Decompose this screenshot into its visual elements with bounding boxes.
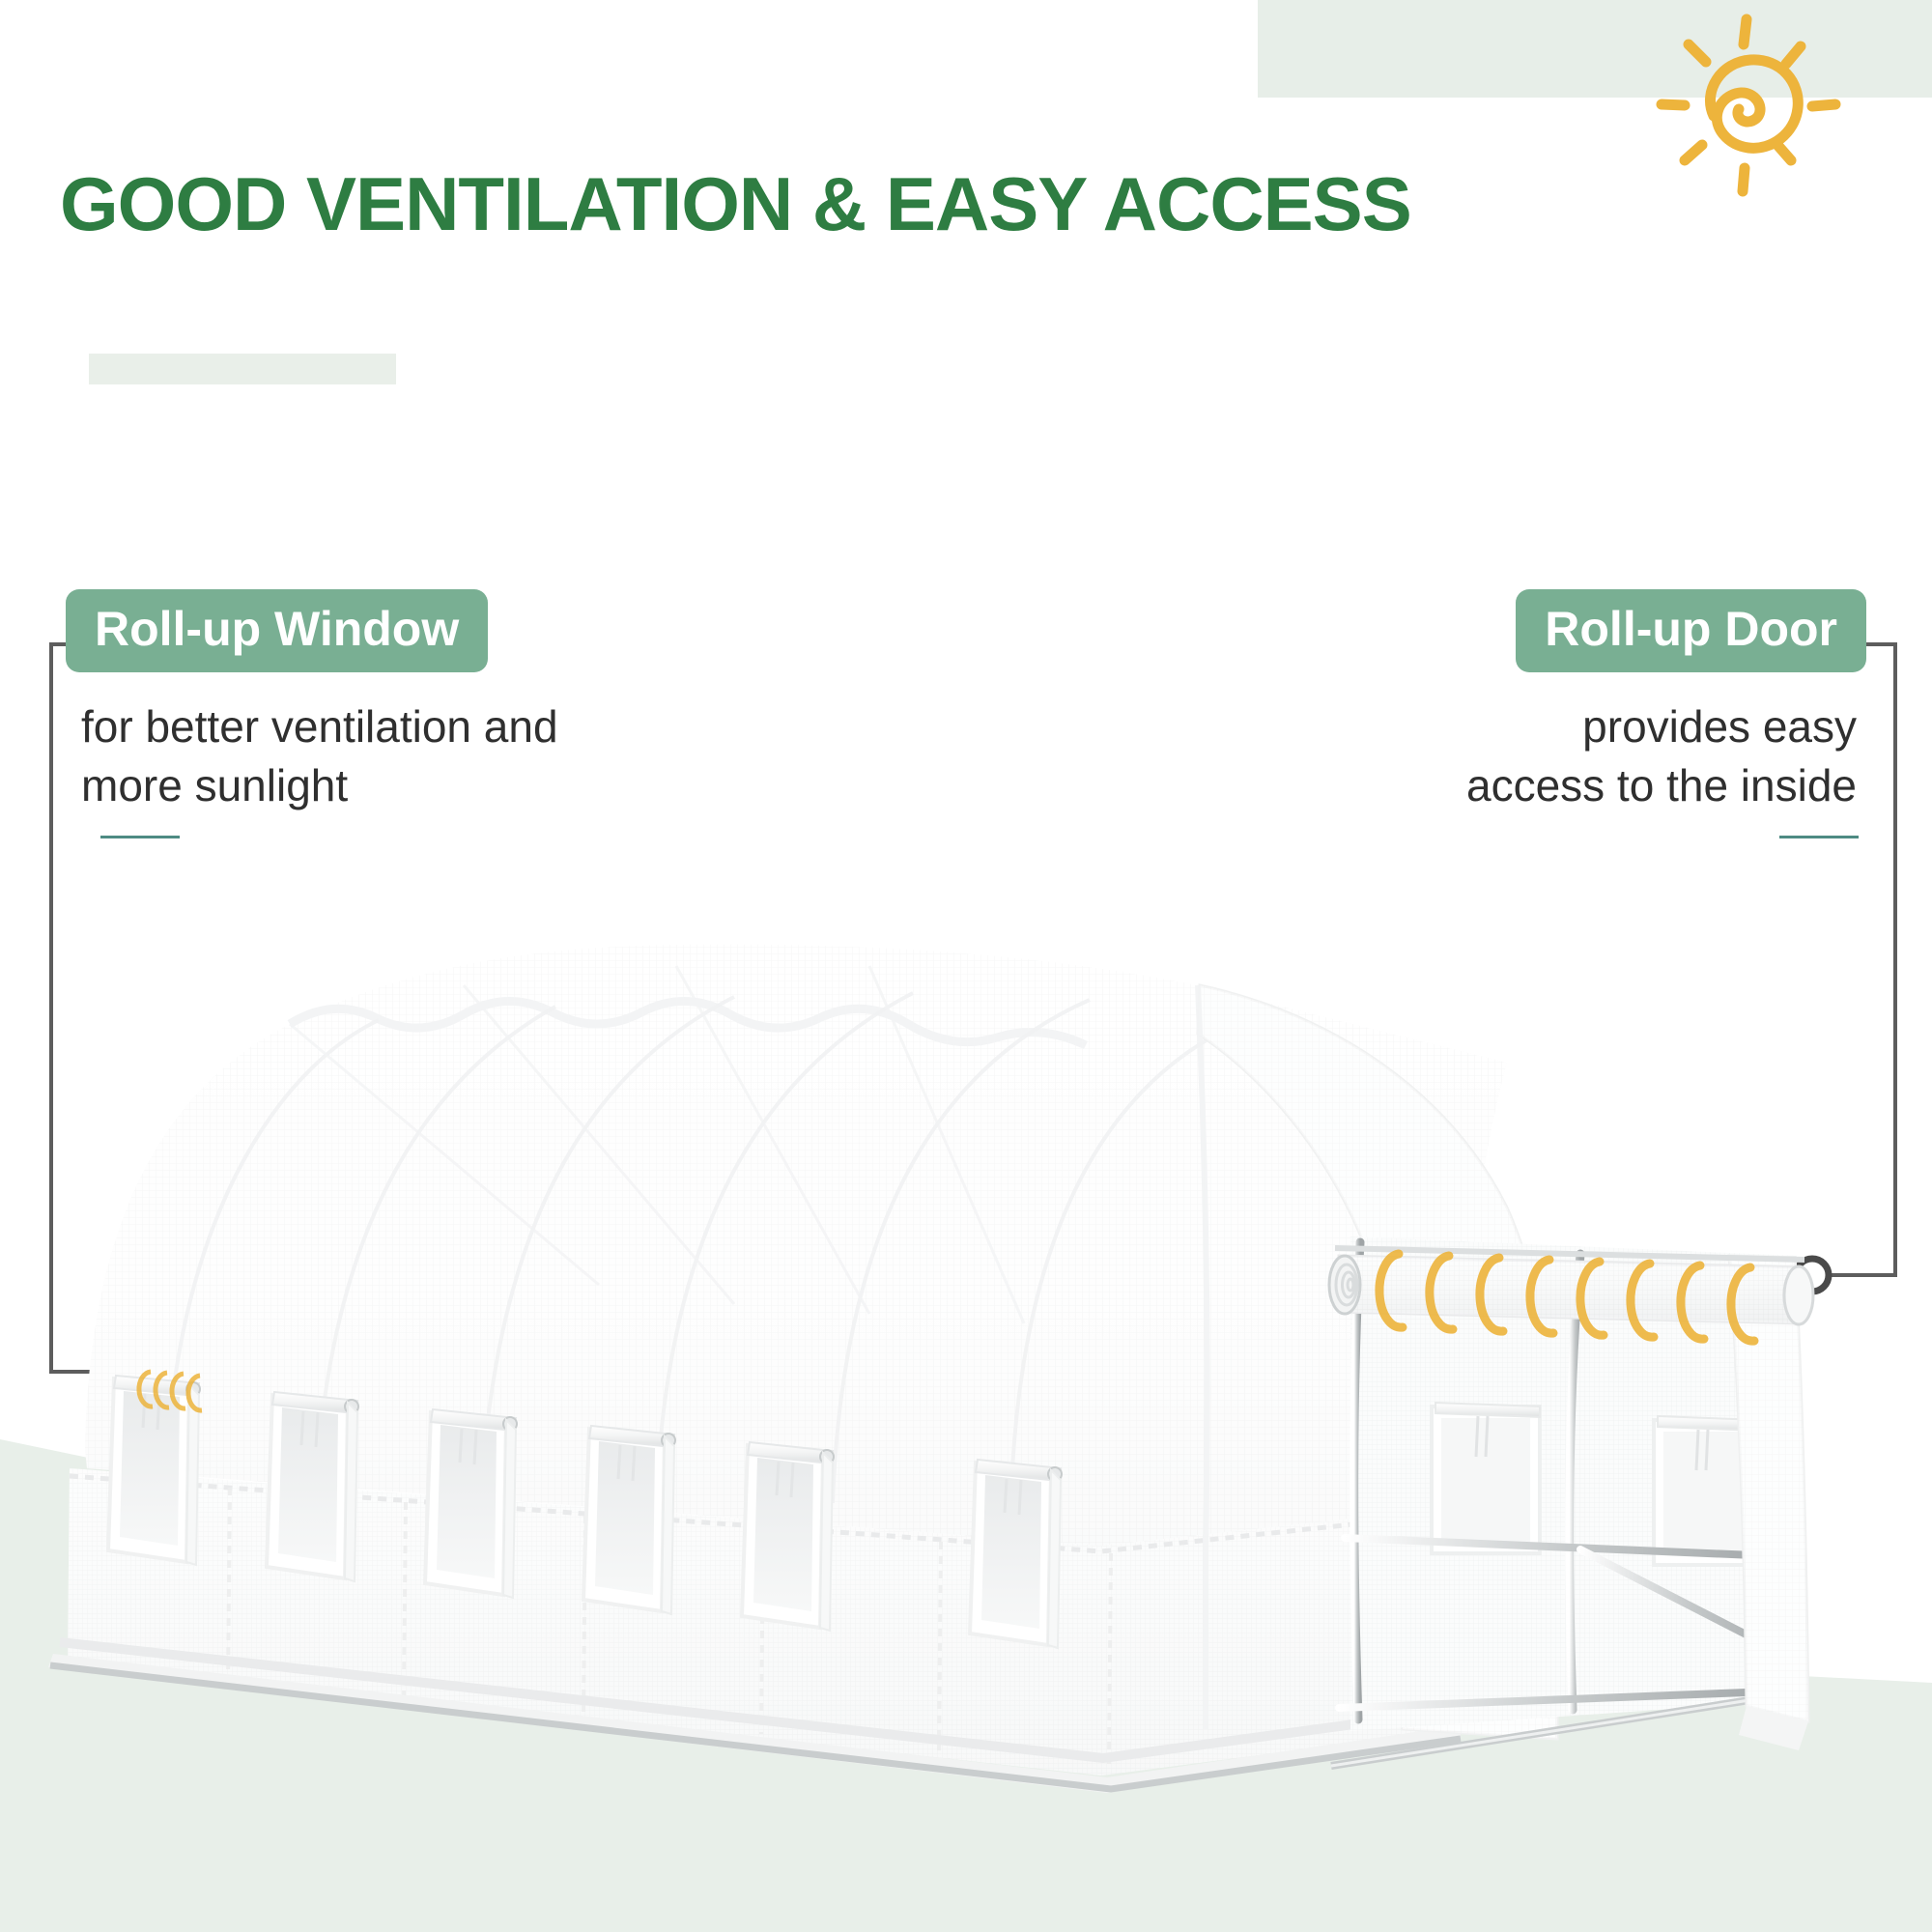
greenhouse-body xyxy=(48,945,1813,1793)
side-window-6 xyxy=(970,1460,1062,1648)
infographic-canvas: GOOD VENTILATION & EASY ACCESS Roll-up W… xyxy=(0,0,1932,1932)
greenhouse-illustration xyxy=(0,0,1932,1932)
side-window-3 xyxy=(425,1409,517,1598)
end-window-1 xyxy=(1432,1403,1540,1553)
window-pane xyxy=(437,1425,497,1578)
door-roll-right-cap xyxy=(1784,1266,1813,1324)
side-window-4 xyxy=(583,1426,675,1614)
door-roll-end-cap xyxy=(1329,1256,1360,1314)
side-window-5 xyxy=(742,1442,834,1631)
side-window-1 xyxy=(108,1376,200,1565)
window-pane xyxy=(278,1407,338,1562)
window-pane xyxy=(753,1458,813,1611)
window-pane xyxy=(120,1391,180,1546)
window-pane xyxy=(595,1441,655,1595)
side-window-2 xyxy=(267,1392,358,1581)
window-pane xyxy=(981,1475,1041,1629)
